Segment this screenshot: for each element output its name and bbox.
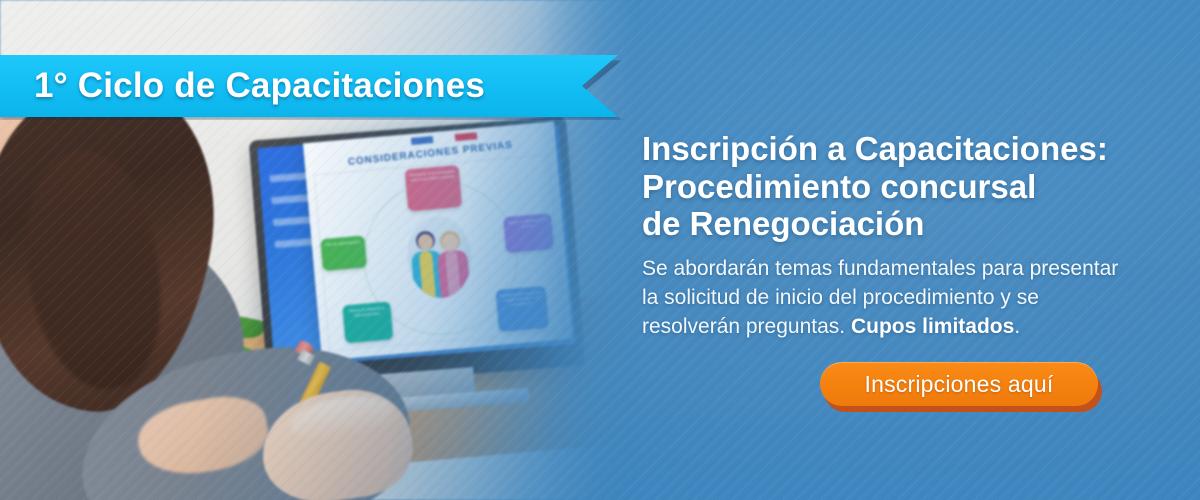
- inscriptions-button[interactable]: Inscripciones aquí: [820, 362, 1098, 406]
- body-line-2: la solicitud de inicio del procedimiento…: [642, 284, 1172, 313]
- headline-line-3: de Renegociación: [642, 205, 1162, 243]
- body-text: Se abordarán temas fundamentales para pr…: [642, 255, 1172, 342]
- promo-banner: CONSIDERACIONES PREVIAS Impor: [0, 0, 1200, 500]
- cta-container: Inscripciones aquí: [820, 362, 1098, 406]
- body-line-1: Se abordarán temas fundamentales para pr…: [642, 255, 1172, 284]
- ribbon-label: 1° Ciclo de Capacitaciones: [34, 66, 485, 106]
- headline-line-2: Procedimiento concursal: [642, 168, 1162, 206]
- content-panel: Inscripción a Capacitaciones: Procedimie…: [642, 0, 1182, 500]
- body-line-3-emphasis: Cupos limitados: [851, 315, 1014, 338]
- headline-line-1: Inscripción a Capacitaciones:: [642, 130, 1162, 168]
- body-line-3-suffix: .: [1014, 315, 1020, 338]
- body-line-3-prefix: resolverán preguntas.: [642, 315, 851, 338]
- ribbon-banner: 1° Ciclo de Capacitaciones: [0, 55, 618, 117]
- body-line-3: resolverán preguntas. Cupos limitados.: [642, 313, 1172, 342]
- headline: Inscripción a Capacitaciones: Procedimie…: [642, 130, 1162, 243]
